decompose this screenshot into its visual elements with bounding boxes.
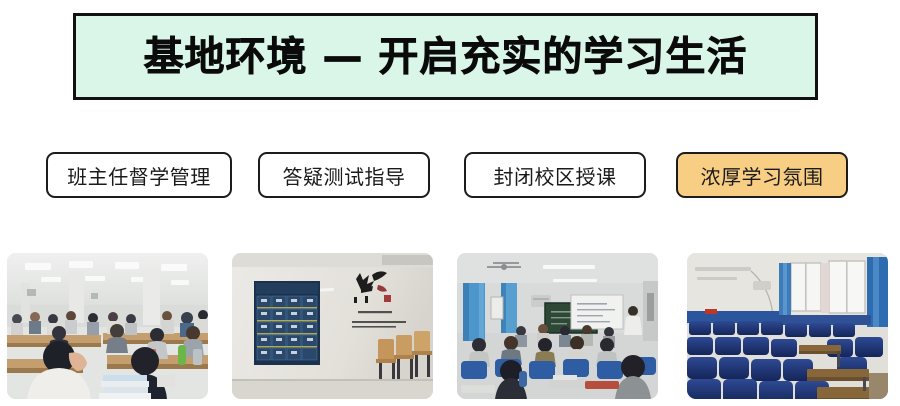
feature-chip-study-atmosphere[interactable]: 浓厚学习氛围	[676, 152, 848, 198]
page-title-banner: 基地环境 — 开启充实的学习生活	[73, 13, 818, 100]
feature-chip-supervision[interactable]: 班主任督学管理	[46, 152, 232, 198]
page-title: 基地环境 — 开启充实的学习生活	[144, 37, 748, 77]
classroom-lecture-photo[interactable]	[457, 253, 658, 399]
feature-chip-label: 班主任督学管理	[67, 161, 211, 190]
feature-chip-label: 封闭校区授课	[494, 161, 617, 190]
empty-lecture-hall-photo[interactable]	[687, 253, 888, 399]
study-hall-photo[interactable]	[7, 253, 208, 399]
feature-chip-row: 班主任督学管理 答疑测试指导 封闭校区授课 浓厚学习氛围	[0, 152, 900, 200]
feature-chip-label: 浓厚学习氛围	[701, 161, 824, 190]
feature-chip-qa-testing[interactable]: 答疑测试指导	[258, 152, 430, 198]
campus-photo-gallery	[0, 253, 900, 399]
feature-chip-closed-campus[interactable]: 封闭校区授课	[464, 152, 646, 198]
wall-board-photo[interactable]	[232, 253, 433, 399]
feature-chip-label: 答疑测试指导	[283, 161, 406, 190]
